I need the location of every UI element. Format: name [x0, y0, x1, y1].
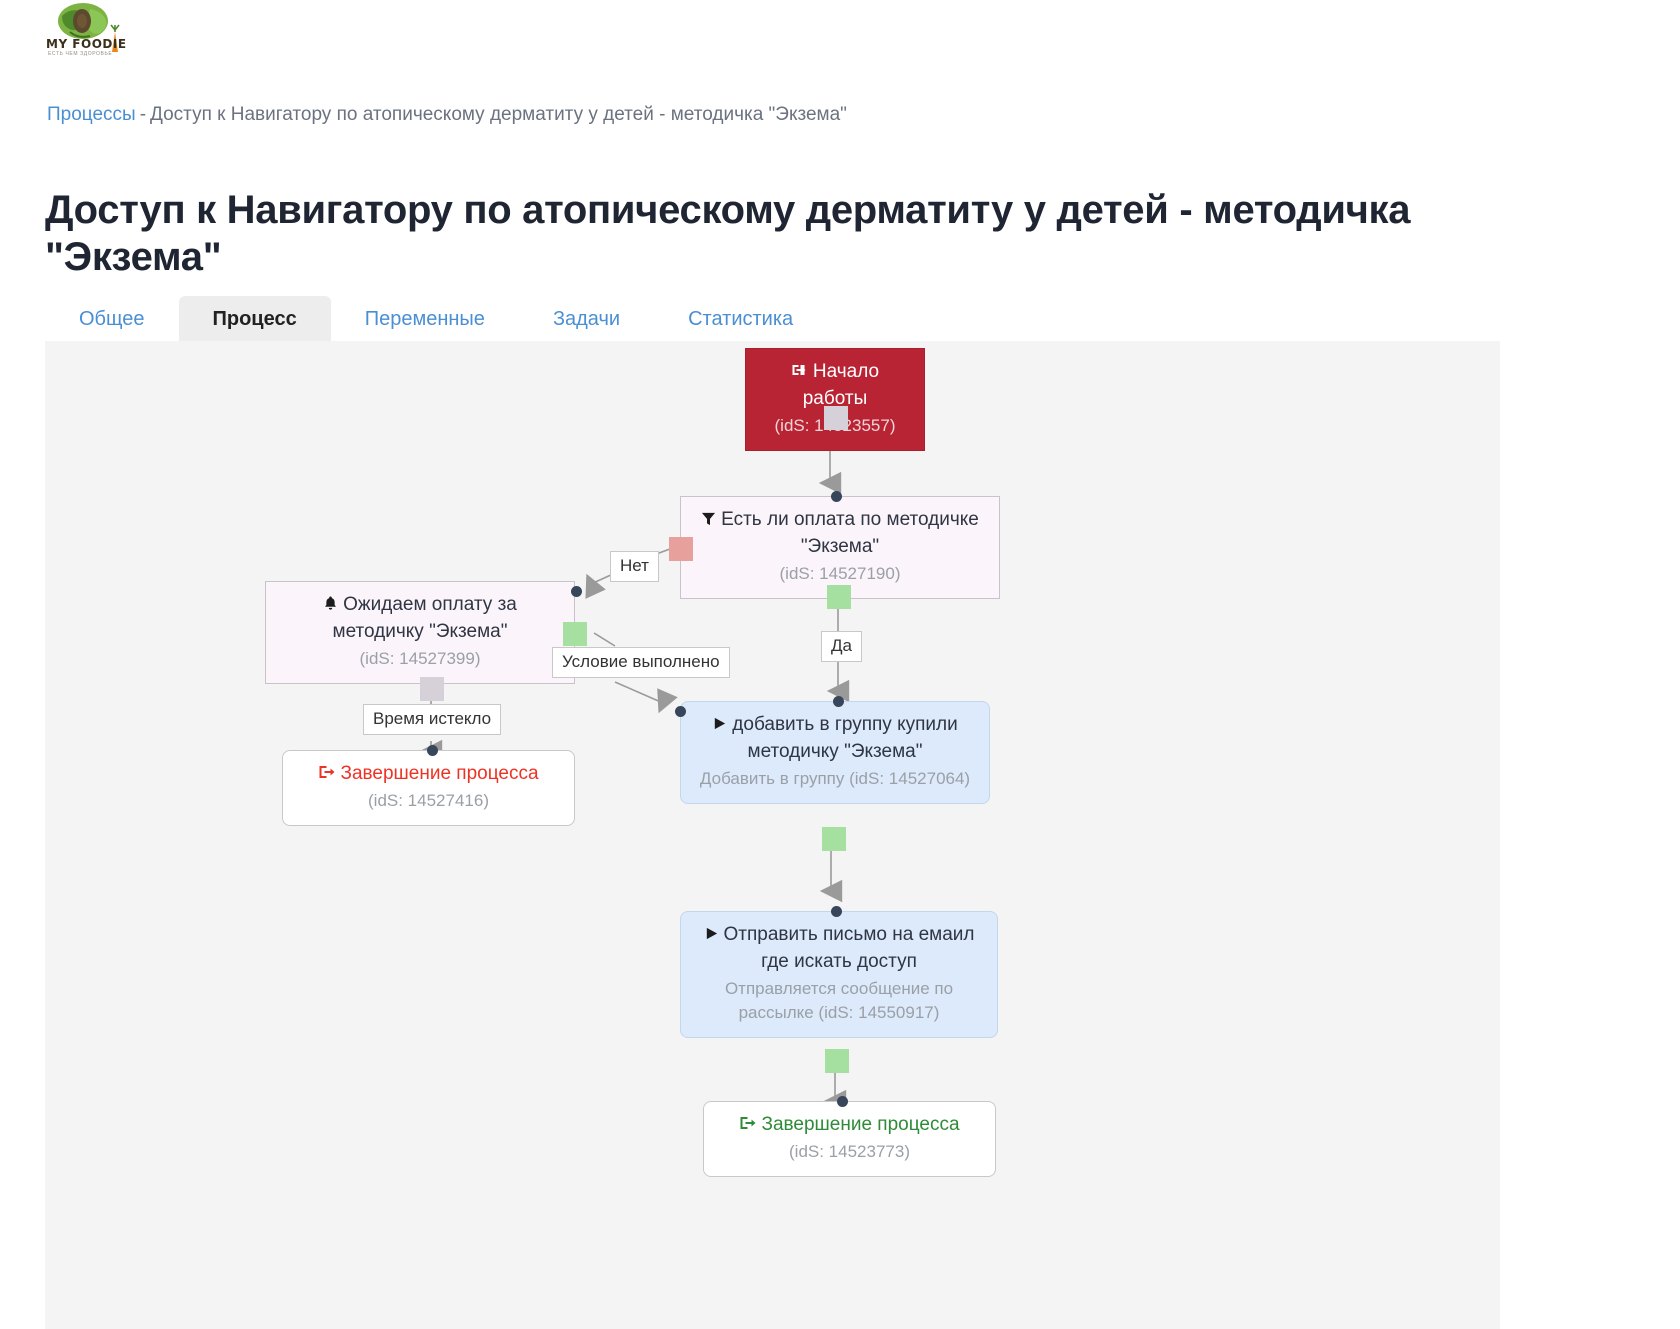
flow-node-start-title: Начало работы — [760, 359, 910, 413]
flow-node-end-timeout-title: Завершение процесса — [297, 761, 560, 788]
flow-handle-start-bottom[interactable] — [824, 406, 848, 430]
flow-handle-condition-yes[interactable] — [827, 585, 851, 609]
flow-port-condition-top[interactable] — [831, 491, 842, 502]
page-title: Доступ к Навигатору по атопическому дерм… — [45, 187, 1445, 281]
flow-handle-send-email-out[interactable] — [825, 1049, 849, 1073]
brand-logo[interactable]: MY FOODIE ЕСТЬ ЧЕМ ЗДОРОВЬЕ — [46, 2, 128, 58]
flow-node-add-to-group-subtitle: Добавить в группу (idS: 14527064) — [695, 767, 975, 791]
app-page: MY FOODIE ЕСТЬ ЧЕМ ЗДОРОВЬЕ Процессы-Дос… — [0, 0, 1680, 1329]
process-flow-canvas[interactable]: Начало работы (idS: 14523557) Есть ли оп… — [45, 341, 1500, 1329]
play-icon — [712, 716, 727, 731]
flow-node-add-to-group[interactable]: добавить в группу купили методичку "Экзе… — [680, 701, 990, 804]
sign-in-icon — [791, 362, 808, 378]
edge-label-time-expired: Время истекло — [363, 704, 501, 735]
flow-node-end-timeout-subtitle: (idS: 14527416) — [297, 789, 560, 813]
flow-handle-wait-timeout[interactable] — [420, 677, 444, 701]
flow-node-send-email-subtitle: Отправляется сообщение по рассылке (idS:… — [695, 977, 983, 1025]
sign-out-icon — [318, 764, 335, 780]
flow-node-end-success-title: Завершение процесса — [718, 1112, 981, 1139]
brand-logo-subtext: ЕСТЬ ЧЕМ ЗДОРОВЬЕ — [48, 51, 112, 57]
flow-node-wait-title: Ожидаем оплату за методичку "Экзема" — [280, 592, 560, 646]
tab-process[interactable]: Процесс — [179, 296, 331, 342]
flow-node-start[interactable]: Начало работы (idS: 14523557) — [745, 348, 925, 451]
flow-port-add-to-group-top[interactable] — [833, 696, 844, 707]
flow-node-wait-subtitle: (idS: 14527399) — [280, 647, 560, 671]
flow-handle-add-to-group-out[interactable] — [822, 827, 846, 851]
flow-port-end-success-top[interactable] — [837, 1096, 848, 1107]
edge-label-condition-met: Условие выполнено — [552, 647, 730, 678]
flow-port-end-timeout-top[interactable] — [427, 745, 438, 756]
flow-port-send-email-top[interactable] — [831, 906, 842, 917]
flow-node-add-to-group-title: добавить в группу купили методичку "Экзе… — [695, 712, 975, 766]
breadcrumb-current: Доступ к Навигатору по атопическому дерм… — [150, 104, 847, 125]
tab-statistics[interactable]: Статистика — [654, 296, 827, 342]
flow-node-condition-title: Есть ли оплата по методичке "Экзема" — [695, 507, 985, 561]
edge-label-yes: Да — [821, 631, 862, 662]
tab-variables[interactable]: Переменные — [331, 296, 519, 342]
globe-avocado-logo-icon — [56, 2, 112, 42]
edge-label-no: Нет — [610, 551, 659, 582]
funnel-filter-icon — [701, 511, 716, 526]
flow-handle-condition-no[interactable] — [669, 537, 693, 561]
tab-obshchee[interactable]: Общее — [45, 296, 179, 342]
tab-tasks[interactable]: Задачи — [519, 296, 654, 342]
flow-node-send-email-title: Отправить письмо на емаил где искать дос… — [695, 922, 983, 976]
flow-node-end-success[interactable]: Завершение процесса (idS: 14523773) — [703, 1101, 996, 1177]
flow-node-end-timeout[interactable]: Завершение процесса (idS: 14527416) — [282, 750, 575, 826]
breadcrumb: Процессы-Доступ к Навигатору по атопичес… — [47, 104, 847, 126]
flow-node-end-success-subtitle: (idS: 14523773) — [718, 1140, 981, 1164]
flow-port-wait-right[interactable] — [571, 586, 582, 597]
flow-node-condition-payment[interactable]: Есть ли оплата по методичке "Экзема" (id… — [680, 496, 1000, 599]
flow-node-wait-payment[interactable]: Ожидаем оплату за методичку "Экзема" (id… — [265, 581, 575, 684]
flow-handle-wait-condition-met[interactable] — [563, 622, 587, 646]
play-icon — [704, 926, 719, 941]
tab-bar: Общее Процесс Переменные Задачи Статисти… — [45, 296, 827, 342]
flow-edges — [45, 341, 1500, 1329]
sign-out-icon — [739, 1115, 756, 1131]
flow-port-add-to-group-left[interactable] — [675, 706, 686, 717]
flow-node-condition-subtitle: (idS: 14527190) — [695, 562, 985, 586]
flow-node-send-email[interactable]: Отправить письмо на емаил где искать дос… — [680, 911, 998, 1038]
breadcrumb-separator: - — [136, 104, 150, 125]
brand-logo-text: MY FOODIE — [46, 38, 128, 50]
bell-icon — [323, 595, 338, 611]
breadcrumb-link-processes[interactable]: Процессы — [47, 104, 136, 125]
